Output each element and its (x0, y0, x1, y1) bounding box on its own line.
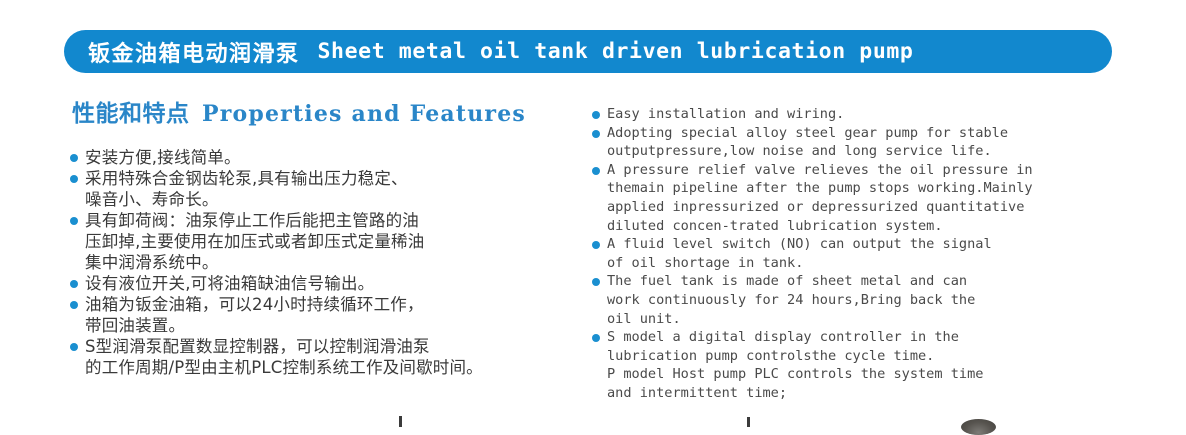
feature-item: 具有卸荷阀：油泵停止工作后能把主管路的油压卸掉,主要使用在加压式或者卸压式定量稀… (70, 210, 570, 273)
section-heading-english: Properties and Features (202, 101, 526, 127)
feature-item-line: outputpressure,low noise and long servic… (607, 142, 1162, 161)
feature-item: 油箱为钣金油箱，可以24小时持续循环工作，带回油装置。 (70, 294, 570, 336)
product-title-english: Sheet metal oil tank driven lubrication … (318, 39, 914, 64)
feature-item: Easy installation and wiring. (592, 105, 1162, 124)
feature-item-line: 采用特殊合金钢齿轮泵,具有输出压力稳定、 (85, 168, 570, 189)
feature-item: 采用特殊合金钢齿轮泵,具有输出压力稳定、噪音小、寿命长。 (70, 168, 570, 210)
feature-item: Adopting special alloy steel gear pump f… (592, 124, 1162, 161)
features-list-english: Easy installation and wiring.Adopting sp… (592, 105, 1162, 403)
features-list-chinese: 安装方便,接线简单。采用特殊合金钢齿轮泵,具有输出压力稳定、噪音小、寿命长。具有… (70, 147, 570, 378)
feature-item-line: Easy installation and wiring. (607, 105, 1162, 124)
feature-item-line: of oil shortage in tank. (607, 254, 1162, 273)
feature-item-line: 安装方便,接线简单。 (85, 147, 570, 168)
feature-item-line: work continuously for 24 hours,Bring bac… (607, 291, 1162, 310)
feature-item-line: themain pipeline after the pump stops wo… (607, 179, 1162, 198)
feature-item-line: and intermittent time; (607, 384, 1162, 403)
feature-item-line: Adopting special alloy steel gear pump f… (607, 124, 1162, 143)
product-title-chinese: 钣金油箱电动润滑泵 (88, 36, 300, 68)
section-heading: 性能和特点 Properties and Features (72, 94, 526, 128)
feature-item: S model a digital display controller in … (592, 328, 1162, 402)
feature-item-line: lubrication pump controlsthe cycle time. (607, 347, 1162, 366)
feature-item-line: A pressure relief valve relieves the oil… (607, 161, 1162, 180)
feature-item-line: The fuel tank is made of sheet metal and… (607, 272, 1162, 291)
section-heading-chinese: 性能和特点 (72, 101, 190, 127)
product-photo-edge-left (399, 416, 402, 427)
product-photo-motor-cap (961, 419, 996, 435)
feature-item: 安装方便,接线简单。 (70, 147, 570, 168)
feature-item-line: 具有卸荷阀：油泵停止工作后能把主管路的油 (85, 210, 570, 231)
feature-item-line: 集中润滑系统中。 (85, 252, 570, 273)
feature-item: A pressure relief valve relieves the oil… (592, 161, 1162, 235)
feature-item-line: P model Host pump PLC controls the syste… (607, 365, 1162, 384)
feature-item-line: 油箱为钣金油箱，可以24小时持续循环工作， (85, 294, 570, 315)
feature-item-line: A fluid level switch (NO) can output the… (607, 235, 1162, 254)
product-photo-edge-right (747, 417, 750, 427)
feature-item-line: 的工作周期/P型由主机PLC控制系统工作及间歇时间。 (85, 357, 570, 378)
feature-item-line: S型润滑泵配置数显控制器，可以控制润滑油泵 (85, 336, 570, 357)
feature-item: 设有液位开关,可将油箱缺油信号输出。 (70, 273, 570, 294)
product-title-banner: 钣金油箱电动润滑泵 Sheet metal oil tank driven lu… (64, 30, 1112, 73)
feature-item-line: S model a digital display controller in … (607, 328, 1162, 347)
feature-item-line: 压卸掉,主要使用在加压式或者卸压式定量稀油 (85, 231, 570, 252)
feature-item: A fluid level switch (NO) can output the… (592, 235, 1162, 272)
feature-item-line: applied inpressurized or depressurized q… (607, 198, 1162, 217)
feature-item-line: 噪音小、寿命长。 (85, 189, 570, 210)
feature-item-line: 带回油装置。 (85, 315, 570, 336)
feature-item: The fuel tank is made of sheet metal and… (592, 272, 1162, 328)
feature-item-line: 设有液位开关,可将油箱缺油信号输出。 (85, 273, 570, 294)
feature-item-line: diluted concen-trated lubrication system… (607, 217, 1162, 236)
feature-item-line: oil unit. (607, 310, 1162, 329)
feature-item: S型润滑泵配置数显控制器，可以控制润滑油泵的工作周期/P型由主机PLC控制系统工… (70, 336, 570, 378)
